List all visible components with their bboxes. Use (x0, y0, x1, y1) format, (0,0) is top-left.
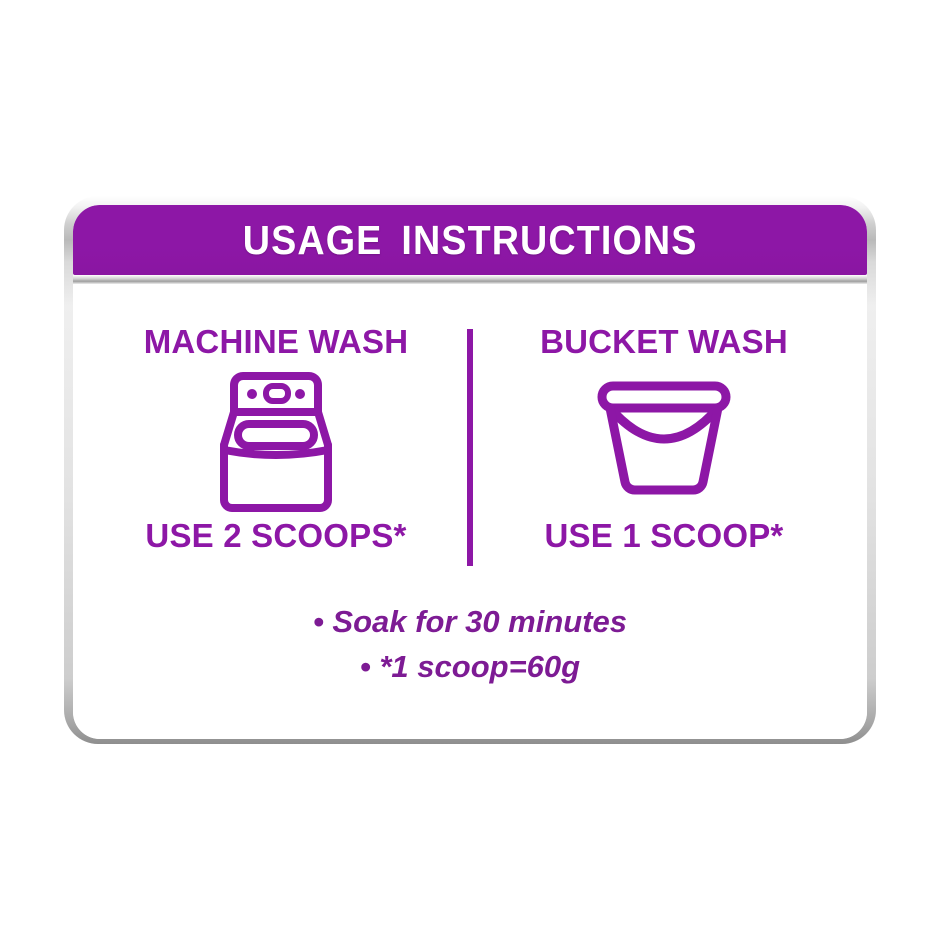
washing-machine-icon (210, 368, 342, 514)
bucket-wash-title: BUCKET WASH (540, 323, 788, 361)
note-line: • Soak for 30 minutes (73, 600, 867, 645)
card-body: MACHINE WASH (73, 284, 867, 739)
note-line: • *1 scoop=60g (73, 645, 867, 690)
bucket-wash-icon-wrap (594, 367, 734, 515)
machine-wash-title: MACHINE WASH (144, 323, 409, 361)
bucket-wash-scoops-label: USE 1 SCOOP* (545, 517, 784, 555)
usage-notes: • Soak for 30 minutes • *1 scoop=60g (73, 600, 867, 690)
banner-underline-divider (73, 275, 867, 284)
header-banner: USAGE INSTRUCTIONS (73, 205, 867, 275)
machine-wash-icon-wrap (210, 367, 342, 515)
page-title: USAGE INSTRUCTIONS (243, 217, 698, 264)
bucket-icon (594, 378, 734, 504)
machine-wash-scoops-label: USE 2 SCOOPS* (145, 517, 406, 555)
usage-instructions-card: USAGE INSTRUCTIONS MACHINE WASH (64, 196, 876, 744)
wash-methods-row: MACHINE WASH (73, 284, 867, 566)
bucket-wash-column: BUCKET WASH (499, 323, 829, 555)
card-inner: USAGE INSTRUCTIONS MACHINE WASH (73, 205, 867, 739)
column-divider (467, 329, 473, 566)
machine-wash-column: MACHINE WASH (111, 323, 441, 555)
